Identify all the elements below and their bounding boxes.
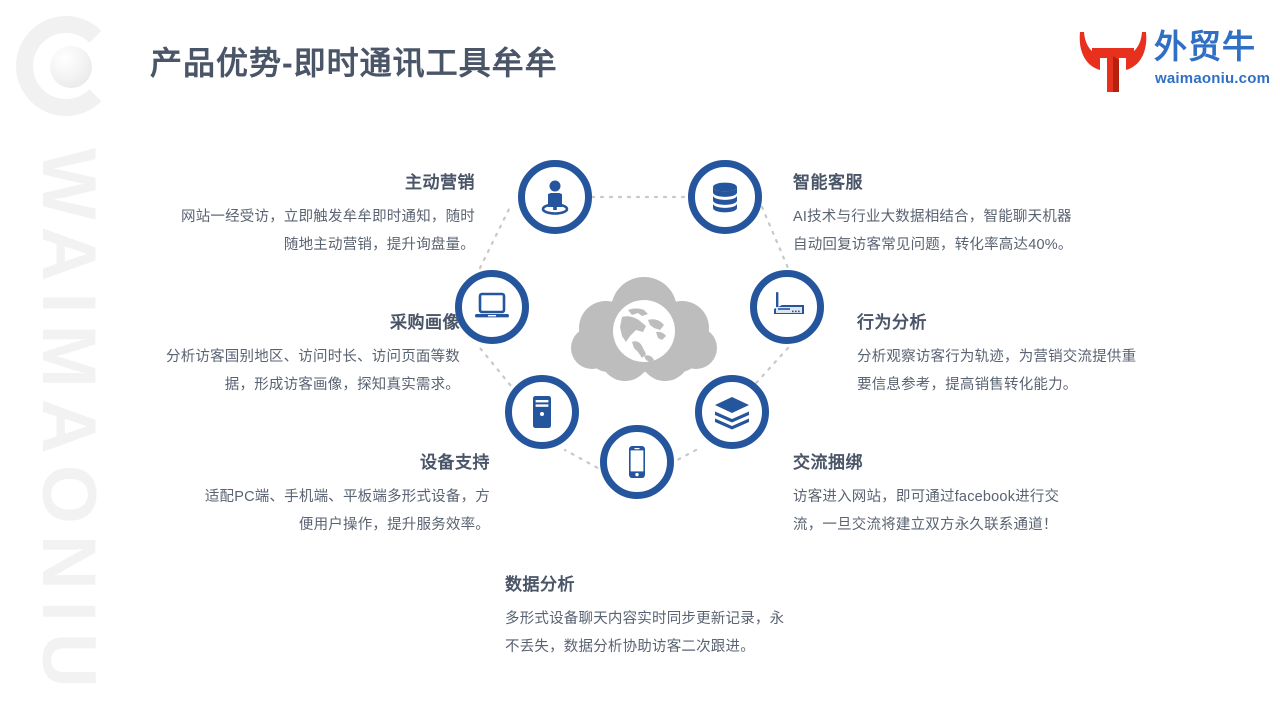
node-smart-service[interactable] (688, 160, 762, 234)
user-person-icon (535, 177, 575, 217)
slide-canvas: WAIMAONIU 产品优势-即时通讯工具牟牟 外贸牛 waimaoniu.co… (0, 0, 1280, 720)
router-wifi-icon (767, 287, 807, 327)
feature-title: 智能客服 (793, 168, 1078, 193)
node-data-analysis[interactable] (600, 425, 674, 499)
watermark-text: WAIMAONIU (30, 148, 106, 608)
feature-title: 采购画像 (160, 308, 460, 333)
feature-title: 交流捆绑 (793, 448, 1073, 473)
layers-stack-icon (713, 393, 751, 431)
feature-body: AI技术与行业大数据相结合，智能聊天机器自动回复访客常见问题，转化率高达40%。 (793, 203, 1078, 260)
database-icon (706, 178, 744, 216)
feature-body: 适配PC端、手机端、平板端多形式设备，方便用户操作，提升服务效率。 (195, 483, 490, 540)
node-behavior-analysis[interactable] (750, 270, 824, 344)
feature-body: 分析访客国别地区、访问时长、访问页面等数据，形成访客画像，探知真实需求。 (160, 343, 460, 400)
node-device-support[interactable] (505, 375, 579, 449)
laptop-icon (472, 289, 512, 325)
mobile-phone-icon (619, 444, 655, 480)
bull-head-icon (1076, 26, 1150, 94)
feature-body: 分析观察访客行为轨迹，为营销交流提供重要信息参考，提高销售转化能力。 (857, 343, 1147, 400)
cloud-globe-icon (570, 270, 718, 392)
feature-chat-binding: 交流捆绑 访客进入网站，即可通过facebook进行交流，一旦交流将建立双方永久… (793, 448, 1073, 540)
feature-proactive-marketing: 主动营销 网站一经受访，立即触发牟牟即时通知，随时随地主动营销，提升询盘量。 (175, 168, 475, 260)
desktop-tower-icon (524, 394, 560, 430)
brand-logo: 外贸牛 waimaoniu.com (1076, 24, 1262, 98)
node-proactive-marketing[interactable] (518, 160, 592, 234)
feature-title: 数据分析 (505, 570, 790, 595)
feature-data-analysis: 数据分析 多形式设备聊天内容实时同步更新记录，永不丢失，数据分析协助访客二次跟进… (505, 570, 790, 662)
brand-name-cn: 外贸牛 (1154, 30, 1256, 63)
watermark: WAIMAONIU (0, 0, 130, 720)
node-purchase-profile[interactable] (455, 270, 529, 344)
feature-title: 行为分析 (857, 308, 1147, 333)
feature-body: 多形式设备聊天内容实时同步更新记录，永不丢失，数据分析协助访客二次跟进。 (505, 605, 790, 662)
feature-title: 主动营销 (175, 168, 475, 193)
feature-device-support: 设备支持 适配PC端、手机端、平板端多形式设备，方便用户操作，提升服务效率。 (195, 448, 490, 540)
node-chat-binding[interactable] (695, 375, 769, 449)
feature-body: 访客进入网站，即可通过facebook进行交流，一旦交流将建立双方永久联系通道！ (793, 483, 1073, 540)
feature-smart-service: 智能客服 AI技术与行业大数据相结合，智能聊天机器自动回复访客常见问题，转化率高… (793, 168, 1078, 260)
feature-body: 网站一经受访，立即触发牟牟即时通知，随时随地主动营销，提升询盘量。 (175, 203, 475, 260)
feature-title: 设备支持 (195, 448, 490, 473)
diagram-wheel (430, 160, 850, 560)
page-title: 产品优势-即时通讯工具牟牟 (150, 38, 558, 84)
feature-behavior-analysis: 行为分析 分析观察访客行为轨迹，为营销交流提供重要信息参考，提高销售转化能力。 (857, 308, 1147, 400)
feature-purchase-profile: 采购画像 分析访客国别地区、访问时长、访问页面等数据，形成访客画像，探知真实需求… (160, 308, 460, 400)
watermark-logo-icon (8, 10, 123, 120)
brand-url: waimaoniu.com (1155, 70, 1270, 87)
